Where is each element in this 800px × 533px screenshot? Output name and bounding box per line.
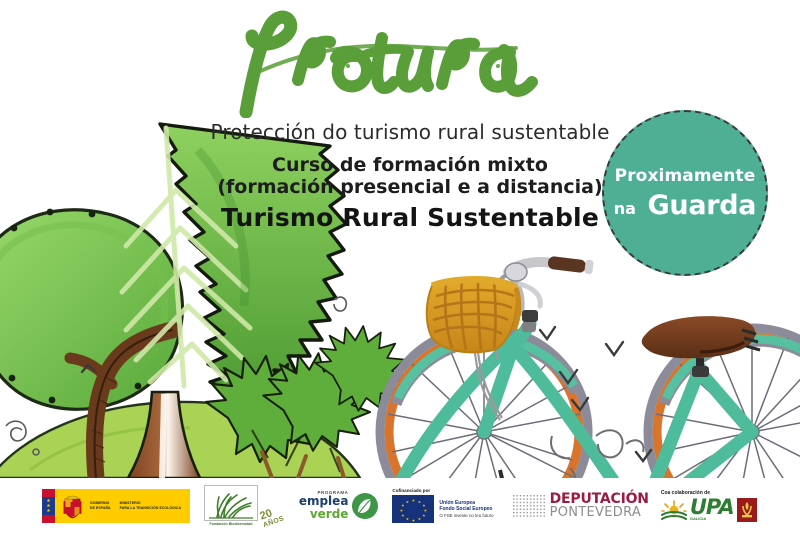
deputacion-line-1: DEPUTACIÓN	[550, 492, 649, 506]
protura-logo: Protura	[230, 8, 590, 118]
upa-wordmark: UPA	[690, 498, 734, 517]
gobierno-line-1: GOBIERNO	[90, 501, 111, 505]
verde-word: verde	[299, 508, 349, 521]
course-title: Turismo Rural Sustentable	[210, 203, 610, 232]
footer-separator-4	[494, 491, 512, 521]
badge-prefix: na	[614, 199, 636, 218]
biodiversidad-anniversary: 20 AÑOS	[259, 505, 286, 529]
biodiversidad-caption: Fundación Biodiversidad	[204, 522, 258, 526]
gobierno-line-2: DE ESPAÑA	[90, 506, 111, 510]
logo-gobierno-espana[interactable]: GOBIERNO DE ESPAÑA MINISTERIO PARA LA TR…	[42, 483, 190, 529]
biodiversidad-grass-icon	[204, 485, 258, 521]
coming-soon-badge[interactable]: Proximamente na Guarda	[602, 110, 768, 276]
footer-separator-3	[378, 491, 392, 521]
ministerio-line-2: PARA LA TRANSICIÓN ECOLÓGICA	[120, 506, 181, 510]
course-line-2: (formación presencial e a distancia)	[210, 176, 610, 198]
logo-emplea-verde[interactable]: PROGRAMA emplea verde	[299, 483, 379, 529]
badge-city: Guarda	[648, 190, 757, 221]
eu-cofinanced-caption: Cofinanciado por	[392, 488, 493, 493]
eu-flag-icon	[392, 495, 434, 523]
footer-separator	[190, 491, 204, 521]
logo-upa[interactable]: Coa colaboración de U	[661, 483, 757, 529]
logo-fundacion-biodiversidad[interactable]: Fundación Biodiversidad 20 AÑOS	[204, 483, 283, 529]
upa-emblem-icon	[737, 498, 757, 522]
badge-proximamente-label: Proximamente	[615, 166, 756, 186]
footer-separator-5	[649, 491, 661, 521]
leaf-icon	[352, 493, 378, 519]
spain-coat-of-arms-icon	[62, 492, 83, 519]
course-line-1: Curso de formación mixto	[210, 154, 610, 176]
eu-line-3: O FSE investe no teu futuro	[439, 513, 493, 519]
poster-tagline: Protección do turismo rural sustentable	[210, 120, 610, 144]
footer-separator-2	[283, 491, 299, 521]
eu-line-2: Fondo Social Europeo	[439, 506, 493, 513]
sponsor-footer: GOBIERNO DE ESPAÑA MINISTERIO PARA LA TR…	[0, 478, 800, 533]
deputacion-line-2: PONTEVEDRA	[550, 506, 649, 519]
deputacion-dots-icon	[512, 494, 546, 518]
spain-flag-icon	[42, 489, 55, 523]
upa-sun-field-icon	[661, 498, 687, 522]
poster-canvas: Protura	[0, 0, 800, 533]
logo-union-europea[interactable]: Cofinanciado por	[392, 483, 493, 529]
emplea-word: emplea	[299, 495, 349, 508]
badge-location-line: na Guarda	[614, 190, 756, 221]
logo-deputacion-pontevedra[interactable]: DEPUTACIÓN PONTEVEDRA	[512, 483, 649, 529]
brand-header: Protura	[210, 8, 610, 232]
